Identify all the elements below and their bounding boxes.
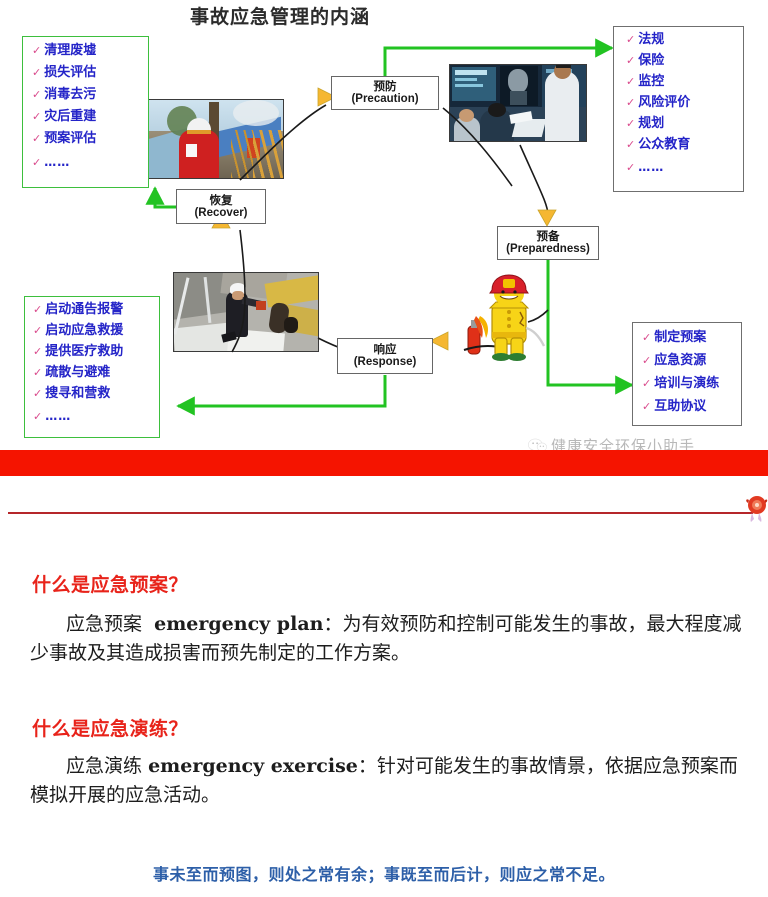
phase-label-cn: 恢复 [210,194,233,207]
check-icon: ✓ [642,402,651,413]
precaution-list: ✓ 法规 ✓ 保险 ✓ 监控 ✓ 风险评价 ✓ 规划 ✓ 公众教育 ✓ …… [613,26,744,192]
list-item-label: 公众教育 [638,138,690,151]
check-icon: ✓ [626,56,635,67]
list-item-label: 灾后重建 [44,110,96,123]
phase-label-en: (Precaution) [351,93,418,106]
list-item: ✓ 制定预案 [642,331,741,344]
check-icon: ✓ [626,98,635,109]
photo-volunteers-rebuilding-roof [148,99,284,179]
response-list: ✓ 启动通告报警 ✓ 启动应急救援 ✓ 提供医疗救助 ✓ 疏散与避难 ✓ 搜寻和… [24,296,160,438]
preparedness-list: ✓ 制定预案 ✓ 应急资源 ✓ 培训与演练 ✓ 互助协议 [632,322,742,426]
paragraph-emergency-plan: 应急预案 emergency plan：为有效预防和控制可能发生的事故，最大程度… [30,610,748,669]
phase-label-en: (Response) [354,356,417,369]
list-item-label: 法规 [638,33,664,46]
list-item: ✓ 风险评价 [626,96,743,109]
list-item: ✓ 公众教育 [626,138,743,151]
term-cn-emergency-exercise: 应急演练 [66,755,142,777]
list-item: ✓ 损失评估 [32,66,148,79]
list-item-label: 培训与演练 [654,377,719,390]
check-icon: ✓ [642,356,651,367]
check-icon: ✓ [33,347,42,358]
check-icon: ✓ [32,68,41,79]
list-item: ✓ 提供医疗救助 [33,345,159,358]
list-item: ✓ 法规 [626,33,743,46]
term-cn-emergency-plan: 应急预案 [66,613,142,635]
list-item: ✓ 启动通告报警 [33,303,159,316]
list-item: ✓ 疏散与避难 [33,366,159,379]
list-item-label: 损失评估 [44,66,96,79]
list-item-label: 清理废墟 [44,44,96,57]
firefighter-cartoon-icon [462,272,558,368]
list-item-label: …… [638,161,664,173]
list-item-label: 监控 [638,75,664,88]
list-item-label: 搜寻和营救 [45,387,110,400]
phase-box-preparedness: 预备 (Preparedness) [497,226,599,260]
list-item: ✓ 监控 [626,75,743,88]
list-item: ✓ 培训与演练 [642,377,741,390]
check-icon: ✓ [33,412,42,423]
list-item-label: 疏散与避难 [45,366,110,379]
recover-list: ✓ 清理废墟 ✓ 损失评估 ✓ 消毒去污 ✓ 灾后重建 ✓ 预案评估 ✓ …… [22,36,149,188]
phase-box-precaution: 预防 (Precaution) [331,76,439,110]
list-item-label: 启动通告报警 [45,303,123,316]
phase-label-cn: 预防 [374,80,397,93]
list-item-label: …… [44,156,70,168]
body-line-1: 为有效预防和控制可能发生的事故， [342,613,646,635]
list-item: ✓ 启动应急救援 [33,324,159,337]
check-icon: ✓ [32,112,41,123]
list-item: ✓ 预案评估 [32,132,148,145]
paragraph-emergency-exercise: 应急演练 emergency exercise：针对可能发生的事故情景，依据应急… [30,752,748,811]
list-item-label: 风险评价 [638,96,690,109]
check-icon: ✓ [642,333,651,344]
list-item: ✓ 消毒去污 [32,88,148,101]
check-icon: ✓ [642,379,651,390]
list-item: ✓ 清理废墟 [32,44,148,57]
photo-briefing-room-screens [449,64,587,142]
list-item: ✓ …… [626,161,743,174]
list-item-label: 消毒去污 [44,88,96,101]
closing-quote: 事未至而预图，则处之常有余；事既至而后计，则应之常不足。 [0,861,768,885]
list-item: ✓ 互助协议 [642,400,741,413]
document-text-section: 什么是应急预案？ 应急预案 emergency plan：为有效预防和控制可能发… [0,528,768,897]
list-item: ✓ 灾后重建 [32,110,148,123]
check-icon: ✓ [626,140,635,151]
list-item-label: 规划 [638,117,664,130]
red-flower-ornament-icon [745,495,768,522]
list-item-label: 预案评估 [44,132,96,145]
check-icon: ✓ [33,326,42,337]
list-item-label: 启动应急救援 [45,324,123,337]
colon-2: ： [358,755,377,777]
check-icon: ✓ [32,46,41,57]
list-item: ✓ 保险 [626,54,743,67]
list-item-label: 互助协议 [654,400,706,413]
question-heading-emergency-plan: 什么是应急预案？ [32,570,188,597]
phase-label-en: (Preparedness) [506,243,590,256]
phase-label-cn: 预备 [537,230,560,243]
list-item: ✓ …… [33,410,159,423]
check-icon: ✓ [626,163,635,174]
check-icon: ✓ [33,368,42,379]
colon-1: ： [323,613,342,635]
check-icon: ✓ [626,119,635,130]
term-en-emergency-plan: emergency plan [154,613,323,635]
page-title: 事故应急管理的内涵 [0,2,560,29]
list-item-label: 保险 [638,54,664,67]
check-icon: ✓ [33,305,42,316]
phase-box-response: 响应 (Response) [337,338,433,374]
list-item-label: 应急资源 [654,354,706,367]
list-item: ✓ …… [32,156,148,169]
list-item-label: …… [45,410,71,422]
check-icon: ✓ [626,35,635,46]
check-icon: ✓ [32,134,41,145]
body-line-3: 针对可能发生的事故情景，依据应 [377,755,662,777]
list-item-label: 提供医疗救助 [45,345,123,358]
term-en-emergency-exercise: emergency exercise [148,755,358,777]
list-item: ✓ 规划 [626,117,743,130]
phase-label-en: (Recover) [194,207,247,220]
phase-box-recover: 恢复 (Recover) [176,189,266,224]
list-item-label: 制定预案 [654,331,706,344]
photo-rescuer-on-debris [173,272,319,352]
section-divider-line [8,512,753,514]
check-icon: ✓ [33,389,42,400]
check-icon: ✓ [32,90,41,101]
list-item: ✓ 搜寻和营救 [33,387,159,400]
slide-diagram-emergency-management-cycle: 事故应急管理的内涵 [0,0,768,450]
question-heading-emergency-exercise: 什么是应急演练？ [32,714,188,741]
list-item: ✓ 应急资源 [642,354,741,367]
red-banner-divider [0,450,768,476]
check-icon: ✓ [626,77,635,88]
phase-label-cn: 响应 [374,343,397,356]
check-icon: ✓ [32,158,41,169]
